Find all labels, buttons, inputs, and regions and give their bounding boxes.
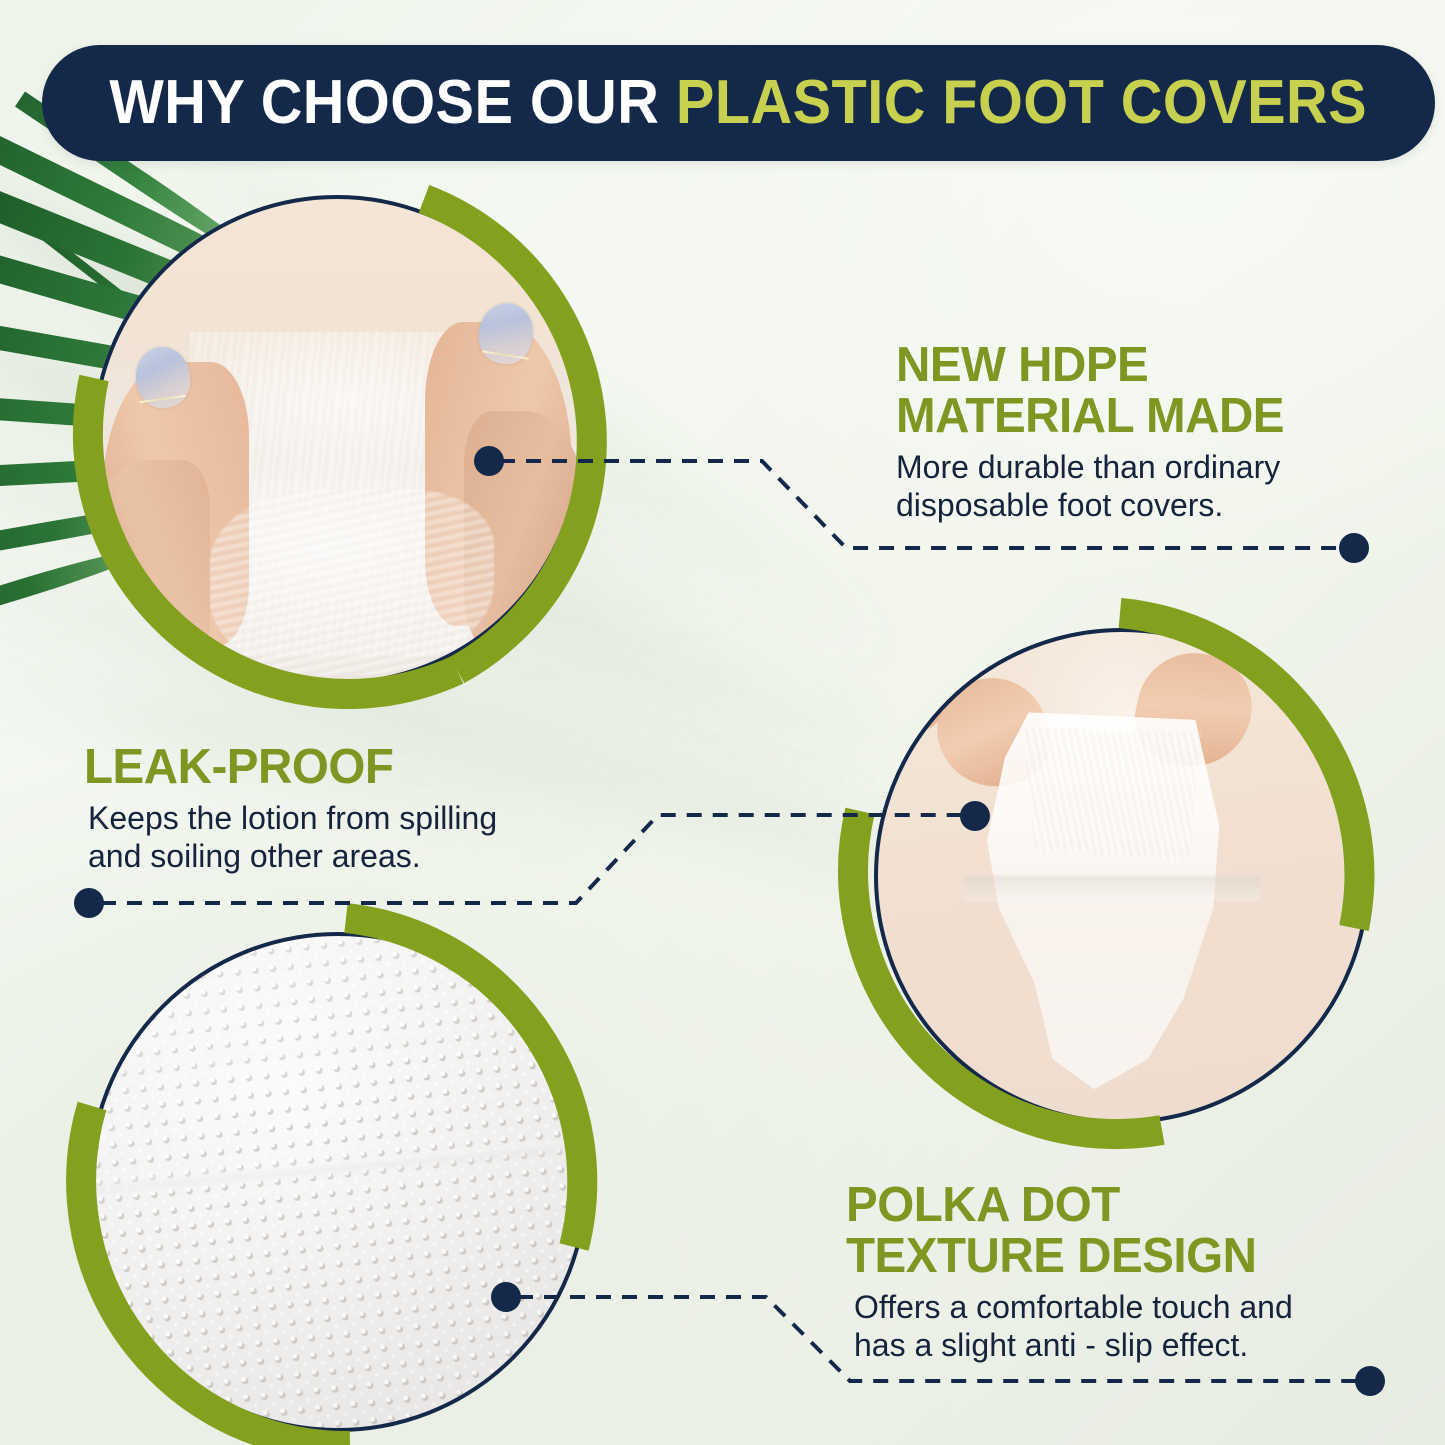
feature-body-line2: disposable foot covers. — [896, 487, 1223, 523]
feature-body: Offers a comfortable touch and has a sli… — [846, 1288, 1386, 1365]
feature-heading-line2: MATERIAL MADE — [896, 389, 1284, 443]
banner-title-green: PLASTIC FOOT COVERS — [676, 68, 1367, 137]
feature-body-line2: has a slight anti - slip effect. — [854, 1327, 1248, 1363]
feature-heading-line1: LEAK-PROOF — [84, 740, 393, 794]
banner-title-white: WHY CHOOSE OUR — [110, 68, 660, 137]
feature-heading-line2: TEXTURE DESIGN — [846, 1229, 1256, 1283]
feature-body-line1: More durable than ordinary — [896, 449, 1280, 485]
feature-leak-proof: LEAK-PROOF Keeps the lotion from spillin… — [84, 742, 624, 876]
feature-body-line2: and soiling other areas. — [88, 838, 421, 874]
feature-heading: POLKA DOT TEXTURE DESIGN — [846, 1180, 1370, 1282]
feature-heading-line1: NEW HDPE — [896, 338, 1148, 392]
banner-title: WHY CHOOSE OUR PLASTIC FOOT COVERS — [110, 72, 1368, 134]
feature-polka-dot: POLKA DOT TEXTURE DESIGN Offers a comfor… — [846, 1180, 1386, 1365]
feature-new-hdpe: NEW HDPE MATERIAL MADE More durable than… — [896, 340, 1396, 525]
feature-heading: NEW HDPE MATERIAL MADE — [896, 340, 1381, 442]
infographic-canvas: WHY CHOOSE OUR PLASTIC FOOT COVERS — [0, 0, 1445, 1445]
feature-body-line1: Offers a comfortable touch and — [854, 1289, 1293, 1325]
circle-ring-outline — [92, 195, 582, 685]
circle-ring-outline — [874, 628, 1370, 1124]
circle-ring-outline — [88, 932, 588, 1432]
feature-body: More durable than ordinary disposable fo… — [896, 448, 1396, 525]
feature-heading: LEAK-PROOF — [84, 742, 608, 793]
header-banner: WHY CHOOSE OUR PLASTIC FOOT COVERS — [42, 45, 1435, 161]
feature-body: Keeps the lotion from spilling and soili… — [84, 799, 624, 876]
feature-heading-line1: POLKA DOT — [846, 1178, 1120, 1232]
feature-body-line1: Keeps the lotion from spilling — [88, 800, 497, 836]
